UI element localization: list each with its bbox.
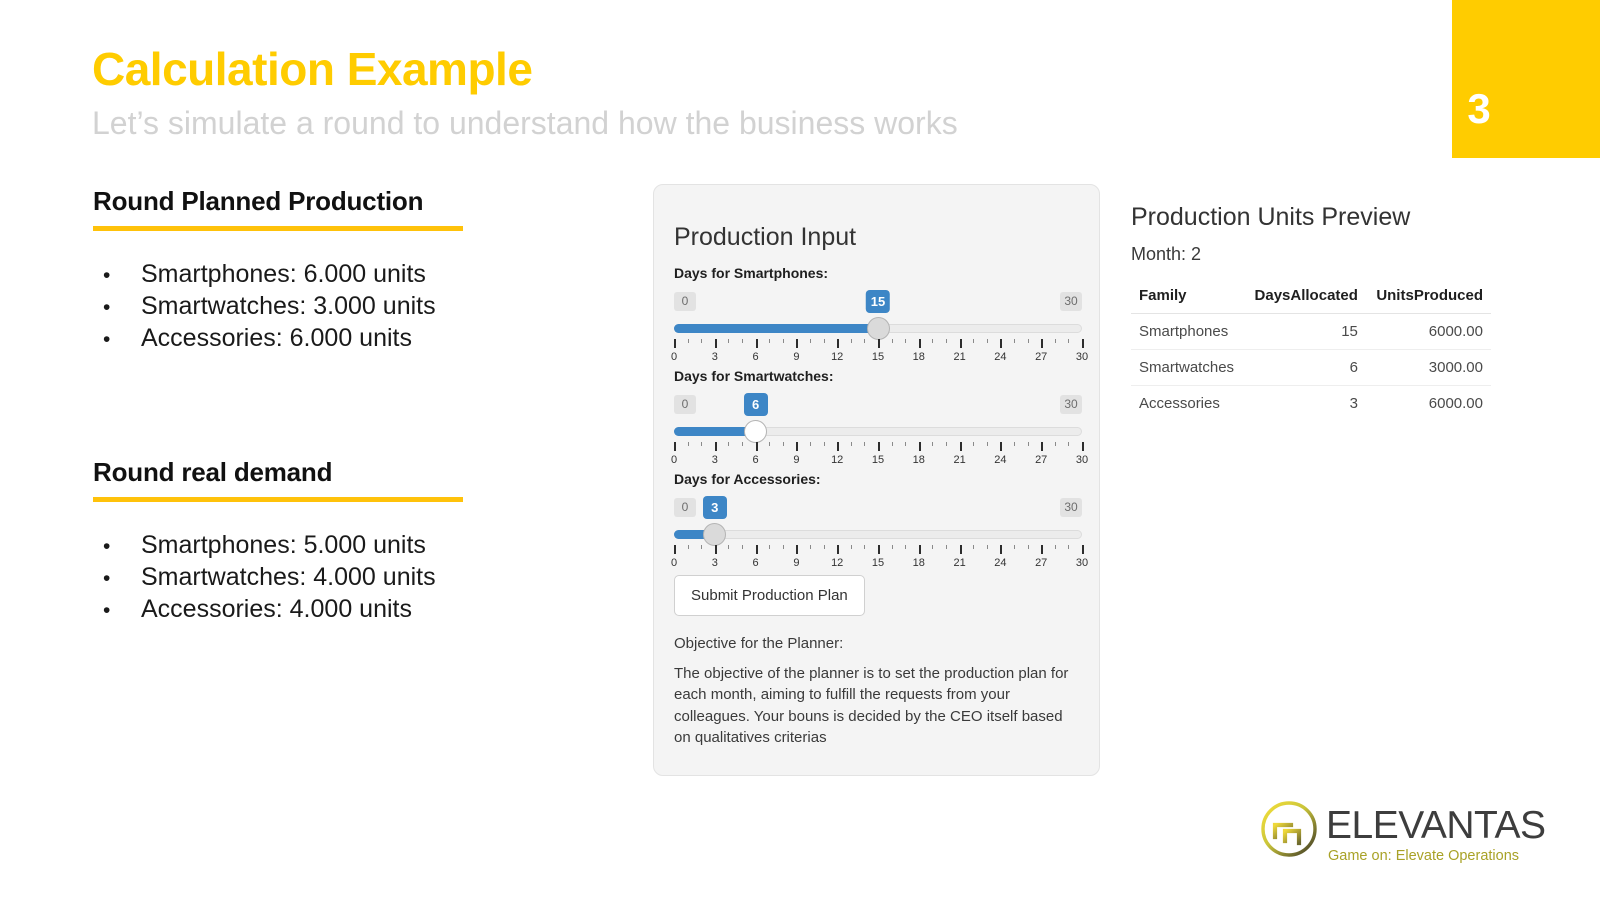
bullet-dot-icon: • [93, 263, 141, 290]
ruler-tick [919, 339, 921, 348]
slider-track-fill [674, 324, 878, 333]
ruler-tick [674, 339, 676, 348]
ruler-tick [756, 442, 758, 451]
ruler-tick [742, 545, 743, 549]
section-underline [93, 497, 463, 502]
ruler-tick [1068, 545, 1069, 549]
ruler-tick-label: 27 [1035, 351, 1047, 363]
ruler-tick [1000, 442, 1002, 451]
slider-handle[interactable] [867, 317, 890, 340]
slider-track[interactable] [674, 317, 1082, 339]
ruler-tick-label: 18 [913, 557, 925, 569]
ruler-tick-label: 9 [793, 351, 799, 363]
slider-value-row: 0 6 30 [674, 393, 1082, 419]
ruler-tick-label: 24 [994, 351, 1006, 363]
objective-text: The objective of the planner is to set t… [674, 663, 1079, 748]
ruler-tick-label: 0 [671, 351, 677, 363]
bullet-list: • Smartphones: 5.000 units • Smartwatche… [93, 530, 593, 625]
production-units-preview: Production Units Preview Month: 2 Family… [1131, 203, 1511, 421]
production-input-panel: Production Input Days for Smartphones: 0… [653, 184, 1100, 776]
slider-max-label: 30 [1060, 395, 1082, 414]
bullet-dot-icon: • [93, 295, 141, 322]
cell-family: Smartphones [1131, 314, 1244, 350]
ruler-tick [1082, 339, 1084, 348]
ruler-tick [742, 442, 743, 446]
ruler-tick-label: 9 [793, 557, 799, 569]
ruler-tick [783, 442, 784, 446]
slider-value-row: 0 15 30 [674, 290, 1082, 316]
slider-min-label: 0 [674, 395, 696, 414]
bullet-dot-icon: • [93, 534, 141, 561]
ruler-tick-label: 6 [753, 454, 759, 466]
ruler-tick [905, 545, 906, 549]
list-item: • Smartwatches: 4.000 units [93, 562, 593, 594]
list-item-label: Smartwatches: 3.000 units [141, 291, 436, 323]
slider-track[interactable] [674, 523, 1082, 545]
ruler-tick [1068, 339, 1069, 343]
slider-group-accessories: Days for Accessories: 0 3 30 03691215182… [674, 471, 1082, 571]
ruler-tick [742, 339, 743, 343]
ruler-tick-label: 24 [994, 454, 1006, 466]
list-item: • Smartphones: 5.000 units [93, 530, 593, 562]
ruler-tick [1082, 442, 1084, 451]
ruler-tick [1014, 545, 1015, 549]
slider-track-background [674, 530, 1082, 539]
ruler-tick [973, 442, 974, 446]
ruler-tick [715, 339, 717, 348]
ruler-tick-label: 30 [1076, 454, 1088, 466]
ruler-tick [946, 545, 947, 549]
slider-min-label: 0 [674, 498, 696, 517]
ruler-tick [688, 442, 689, 446]
cell-units: 3000.00 [1366, 350, 1491, 386]
slider-max-label: 30 [1060, 292, 1082, 311]
ruler-tick [783, 545, 784, 549]
ruler-tick [1028, 545, 1029, 549]
table-row: Smartwatches 6 3000.00 [1131, 350, 1491, 386]
bullet-list: • Smartphones: 6.000 units • Smartwatche… [93, 259, 593, 354]
cell-units: 6000.00 [1366, 314, 1491, 350]
slider-ruler-ticks [674, 545, 1082, 555]
ruler-tick [674, 442, 676, 451]
list-item: • Smartwatches: 3.000 units [93, 291, 593, 323]
ruler-tick-label: 12 [831, 454, 843, 466]
ruler-tick [932, 339, 933, 343]
ruler-tick [919, 545, 921, 554]
cell-family: Accessories [1131, 386, 1244, 422]
ruler-tick [824, 339, 825, 343]
ruler-tick [796, 545, 798, 554]
ruler-tick [728, 442, 729, 446]
ruler-tick-label: 24 [994, 557, 1006, 569]
ruler-tick [769, 545, 770, 549]
ruler-tick [715, 545, 717, 554]
slider-ruler-ticks [674, 339, 1082, 349]
ruler-tick [756, 545, 758, 554]
list-item-label: Accessories: 4.000 units [141, 594, 412, 626]
slider-ruler-ticks [674, 442, 1082, 452]
ruler-tick-label: 15 [872, 351, 884, 363]
ruler-tick [837, 545, 839, 554]
ruler-tick-label: 18 [913, 351, 925, 363]
ruler-tick [864, 442, 865, 446]
bullet-dot-icon: • [93, 327, 141, 354]
cell-family: Smartwatches [1131, 350, 1244, 386]
ruler-tick-label: 9 [793, 454, 799, 466]
page-number-text: 3 [1452, 88, 1506, 130]
column-header-family: Family [1131, 283, 1244, 314]
ruler-tick-label: 3 [712, 351, 718, 363]
ruler-tick [1014, 339, 1015, 343]
cell-days: 3 [1244, 386, 1366, 422]
submit-production-plan-button[interactable]: Submit Production Plan [674, 575, 865, 616]
ruler-tick [1055, 339, 1056, 343]
preview-table: Family DaysAllocated UnitsProduced Smart… [1131, 283, 1491, 421]
list-item-label: Smartphones: 6.000 units [141, 259, 426, 291]
ruler-tick [796, 442, 798, 451]
ruler-tick [701, 442, 702, 446]
ruler-tick [851, 339, 852, 343]
ruler-tick-label: 21 [953, 454, 965, 466]
ruler-tick [1041, 442, 1043, 451]
ruler-tick-label: 0 [671, 557, 677, 569]
page-number-badge: 3 [1452, 0, 1600, 158]
column-header-days-allocated: DaysAllocated [1244, 283, 1366, 314]
ruler-tick [769, 339, 770, 343]
ruler-tick [810, 442, 811, 446]
ruler-tick [688, 339, 689, 343]
ruler-tick-label: 30 [1076, 351, 1088, 363]
ruler-tick-label: 0 [671, 454, 677, 466]
section-heading: Round Planned Production [93, 186, 593, 217]
ruler-tick [851, 442, 852, 446]
bullet-dot-icon: • [93, 598, 141, 625]
brand-logo: ELEVANTAS Game on: Elevate Operations [1258, 796, 1510, 868]
list-item: • Smartphones: 6.000 units [93, 259, 593, 291]
ruler-tick [688, 545, 689, 549]
ruler-tick-label: 21 [953, 557, 965, 569]
cell-days: 15 [1244, 314, 1366, 350]
ruler-tick [932, 442, 933, 446]
list-item-label: Smartphones: 5.000 units [141, 530, 426, 562]
ruler-tick [810, 339, 811, 343]
ruler-tick [728, 339, 729, 343]
ruler-tick [824, 545, 825, 549]
elevantas-ring-icon [1258, 798, 1320, 860]
ruler-tick [987, 545, 988, 549]
ruler-tick [728, 545, 729, 549]
ruler-tick [837, 339, 839, 348]
ruler-tick [987, 339, 988, 343]
ruler-tick [892, 339, 893, 343]
section-round-real-demand: Round real demand • Smartphones: 5.000 u… [93, 457, 593, 625]
ruler-tick-label: 3 [712, 557, 718, 569]
cell-days: 6 [1244, 350, 1366, 386]
ruler-tick [878, 339, 880, 348]
slide-root: Calculation Example Let’s simulate a rou… [0, 0, 1600, 900]
cell-units: 6000.00 [1366, 386, 1491, 422]
slider-value-bubble: 6 [744, 393, 768, 416]
slider-handle[interactable] [703, 523, 726, 546]
ruler-tick [701, 545, 702, 549]
slider-group-smartwatches: Days for Smartwatches: 0 6 30 0369121518… [674, 368, 1082, 468]
ruler-tick-label: 15 [872, 557, 884, 569]
ruler-tick [674, 545, 676, 554]
ruler-tick [701, 339, 702, 343]
ruler-tick [864, 339, 865, 343]
ruler-tick [769, 442, 770, 446]
ruler-tick [960, 339, 962, 348]
ruler-tick [1055, 545, 1056, 549]
ruler-tick [1082, 545, 1084, 554]
ruler-tick [824, 442, 825, 446]
slider-ruler-labels: 036912151821242730 [674, 351, 1082, 365]
preview-month: Month: 2 [1131, 244, 1511, 265]
ruler-tick-label: 18 [913, 454, 925, 466]
slider-label: Days for Smartphones: [674, 265, 1082, 281]
ruler-tick [960, 442, 962, 451]
ruler-tick [919, 442, 921, 451]
ruler-tick-label: 21 [953, 351, 965, 363]
ruler-tick-label: 6 [753, 351, 759, 363]
list-item-label: Smartwatches: 4.000 units [141, 562, 436, 594]
ruler-tick-label: 15 [872, 454, 884, 466]
slider-ruler-labels: 036912151821242730 [674, 454, 1082, 468]
slider-label: Days for Smartwatches: [674, 368, 1082, 384]
ruler-tick-label: 3 [712, 454, 718, 466]
ruler-tick [878, 442, 880, 451]
ruler-tick [946, 442, 947, 446]
slider-value-row: 0 3 30 [674, 496, 1082, 522]
ruler-tick-label: 27 [1035, 557, 1047, 569]
table-header-row: Family DaysAllocated UnitsProduced [1131, 283, 1491, 314]
table-row: Accessories 3 6000.00 [1131, 386, 1491, 422]
slider-group-smartphones: Days for Smartphones: 0 15 30 0369121518… [674, 265, 1082, 365]
ruler-tick [1068, 442, 1069, 446]
slider-min-label: 0 [674, 292, 696, 311]
ruler-tick [973, 339, 974, 343]
section-round-planned-production: Round Planned Production • Smartphones: … [93, 186, 593, 354]
ruler-tick [946, 339, 947, 343]
ruler-tick [1000, 545, 1002, 554]
slider-handle[interactable] [744, 420, 767, 443]
ruler-tick [1041, 339, 1043, 348]
bullet-dot-icon: • [93, 566, 141, 593]
ruler-tick [783, 339, 784, 343]
section-heading: Round real demand [93, 457, 593, 488]
list-item: • Accessories: 4.000 units [93, 594, 593, 626]
ruler-tick-label: 6 [753, 557, 759, 569]
ruler-tick [905, 442, 906, 446]
slider-value-bubble: 15 [866, 290, 890, 313]
production-input-title: Production Input [674, 223, 856, 252]
slider-label: Days for Accessories: [674, 471, 1082, 487]
ruler-tick-label: 12 [831, 557, 843, 569]
logo-tagline: Game on: Elevate Operations [1328, 848, 1519, 864]
left-column: Round Planned Production • Smartphones: … [0, 0, 620, 900]
list-item-label: Accessories: 6.000 units [141, 323, 412, 355]
section-underline [93, 226, 463, 231]
ruler-tick [837, 442, 839, 451]
slider-max-label: 30 [1060, 498, 1082, 517]
ruler-tick [973, 545, 974, 549]
ruler-tick [810, 545, 811, 549]
ruler-tick-label: 12 [831, 351, 843, 363]
ruler-tick [715, 442, 717, 451]
slider-value-bubble: 3 [703, 496, 727, 519]
ruler-tick [864, 545, 865, 549]
ruler-tick [756, 339, 758, 348]
ruler-tick [1000, 339, 1002, 348]
ruler-tick-label: 30 [1076, 557, 1088, 569]
ruler-tick [892, 442, 893, 446]
ruler-tick-label: 27 [1035, 454, 1047, 466]
ruler-tick [987, 442, 988, 446]
preview-title: Production Units Preview [1131, 203, 1511, 232]
ruler-tick [905, 339, 906, 343]
ruler-tick [1028, 442, 1029, 446]
ruler-tick [851, 545, 852, 549]
ruler-tick [1055, 442, 1056, 446]
list-item: • Accessories: 6.000 units [93, 323, 593, 355]
ruler-tick [892, 545, 893, 549]
ruler-tick [1041, 545, 1043, 554]
ruler-tick [1014, 442, 1015, 446]
objective-label: Objective for the Planner: [674, 635, 843, 652]
ruler-tick [878, 545, 880, 554]
slider-ruler-labels: 036912151821242730 [674, 557, 1082, 571]
column-header-units-produced: UnitsProduced [1366, 283, 1491, 314]
logo-wordmark: ELEVANTAS [1326, 806, 1545, 845]
ruler-tick [960, 545, 962, 554]
ruler-tick [932, 545, 933, 549]
ruler-tick [1028, 339, 1029, 343]
slider-track[interactable] [674, 420, 1082, 442]
ruler-tick [796, 339, 798, 348]
table-row: Smartphones 15 6000.00 [1131, 314, 1491, 350]
